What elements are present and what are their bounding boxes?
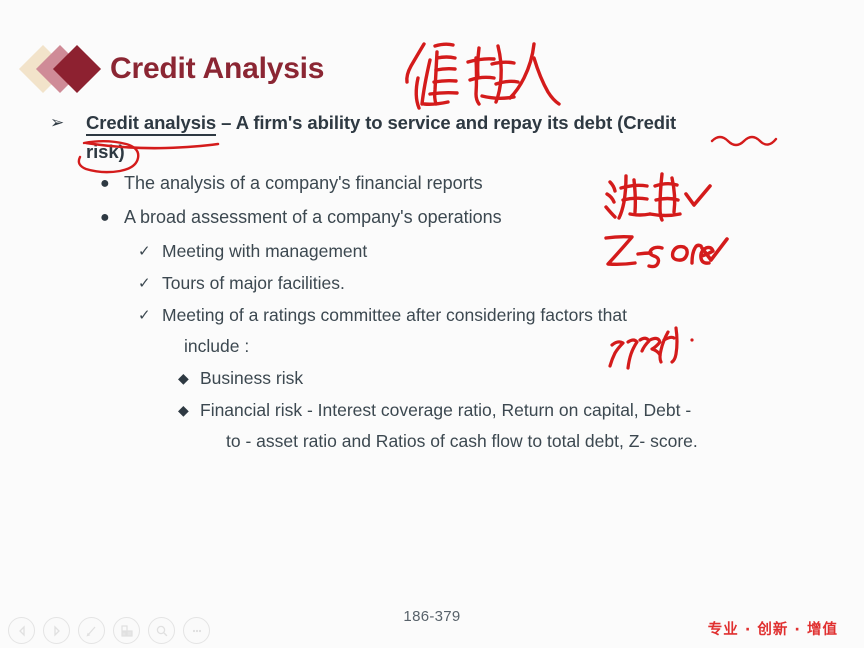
level2-label: The analysis of a company's financial re… bbox=[124, 173, 483, 193]
level1-rest: – A firm's ability to service and repay … bbox=[216, 112, 676, 133]
disc-bullet-icon: ● bbox=[100, 168, 110, 199]
brand-watermark: 专业 · 创新 · 增值 bbox=[708, 618, 838, 639]
magnifier-icon bbox=[155, 624, 169, 638]
bullet-level3-item: ✓ Meeting of a ratings committee after c… bbox=[0, 300, 864, 362]
ink-chinese-creditor bbox=[407, 44, 559, 108]
slide-canvas: Credit Analysis ➢ Credit analysis – A fi… bbox=[0, 0, 864, 648]
next-page-button[interactable] bbox=[43, 617, 70, 644]
ellipsis-icon bbox=[190, 624, 204, 638]
pen-icon bbox=[85, 624, 99, 638]
level4-continuation: to - asset ratio and Ratios of cash flow… bbox=[200, 426, 864, 457]
bullet-level4-item: ◆ Business risk bbox=[0, 363, 864, 394]
thumbnails-button[interactable] bbox=[113, 617, 140, 644]
checkmark-bullet-icon: ✓ bbox=[138, 268, 151, 299]
level4-label: Business risk bbox=[200, 368, 303, 388]
slide-body: ➢ Credit analysis – A firm's ability to … bbox=[0, 108, 864, 458]
level3-label: Tours of major facilities. bbox=[162, 273, 345, 293]
bullet-level4-item: ◆ Financial risk - Interest coverage rat… bbox=[0, 395, 864, 457]
triangle-right-icon bbox=[51, 625, 63, 637]
level2-label: A broad assessment of a company's operat… bbox=[124, 207, 502, 227]
slide-title-row: Credit Analysis bbox=[26, 44, 324, 94]
credit-analysis-term: Credit analysis bbox=[86, 112, 216, 136]
level3-continuation: include : bbox=[162, 331, 864, 362]
search-button[interactable] bbox=[148, 617, 175, 644]
level3-label: Meeting of a ratings committee after con… bbox=[162, 305, 627, 325]
checkmark-bullet-icon: ✓ bbox=[138, 236, 151, 267]
bullet-level2-item: ● The analysis of a company's financial … bbox=[0, 168, 864, 199]
bullet-level2-item: ● A broad assessment of a company's oper… bbox=[0, 202, 864, 233]
page-title: Credit Analysis bbox=[110, 52, 324, 86]
checkmark-bullet-icon: ✓ bbox=[138, 300, 151, 331]
triangle-left-icon bbox=[16, 625, 28, 637]
previous-page-button[interactable] bbox=[8, 617, 35, 644]
level3-label: Meeting with management bbox=[162, 241, 367, 261]
diamond-logo-icon bbox=[26, 44, 114, 94]
bullet-level3-item: ✓ Tours of major facilities. bbox=[0, 268, 864, 299]
diamond-bullet-icon: ◆ bbox=[178, 363, 189, 394]
level1-line2: risk) bbox=[86, 137, 864, 166]
viewer-toolbar bbox=[8, 617, 210, 644]
pen-tool-button[interactable] bbox=[78, 617, 105, 644]
bullet-level1: ➢ Credit analysis – A firm's ability to … bbox=[0, 108, 864, 166]
more-options-button[interactable] bbox=[183, 617, 210, 644]
disc-bullet-icon: ● bbox=[100, 202, 110, 233]
diamond-bullet-icon: ◆ bbox=[178, 395, 189, 426]
bullet-level3-item: ✓ Meeting with management bbox=[0, 236, 864, 267]
arrow-bullet-icon: ➢ bbox=[50, 108, 64, 137]
level4-label: Financial risk - Interest coverage ratio… bbox=[200, 400, 691, 420]
layers-icon bbox=[120, 624, 134, 638]
